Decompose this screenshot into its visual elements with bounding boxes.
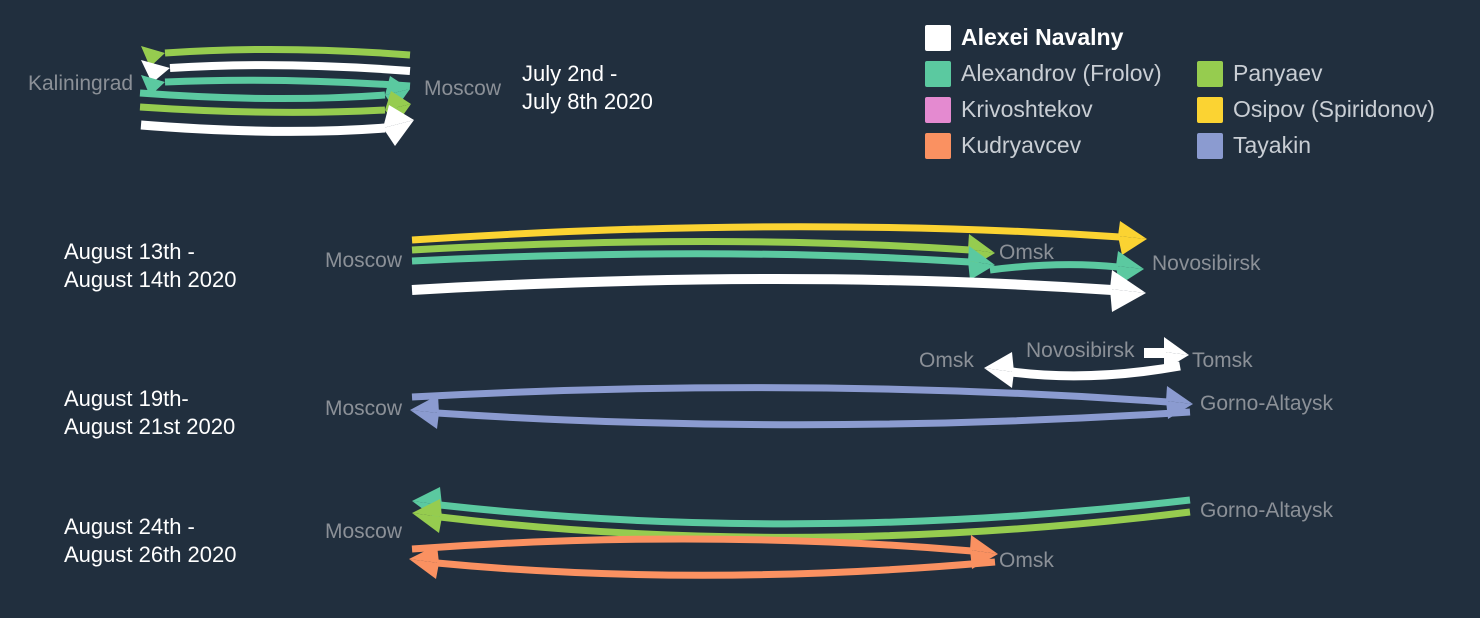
legend-item-navalny: Alexei Navalny: [925, 24, 1197, 51]
city-label-novosibirsk: Novosibirsk: [1152, 253, 1261, 274]
color-swatch-icon: [925, 61, 951, 87]
legend-label: Alexandrov (Frolov): [961, 60, 1162, 87]
legend-item-kudryavcev: Kudryavcev: [925, 132, 1197, 159]
color-swatch-icon: [925, 97, 951, 123]
route-moscow-omsk-kudryavcev: [412, 535, 998, 569]
city-label-gorno-altaysk: Gorno-Altaysk: [1200, 500, 1333, 521]
route-moscow-novosibirsk-navalny: [412, 270, 1146, 312]
legend-item-tayakin: Tayakin: [1197, 132, 1311, 159]
route-moscow-gornoaltaysk-tayakin: [412, 386, 1193, 419]
legend-row: Alexei Navalny: [925, 24, 1470, 51]
route-gornoaltaysk-moscow-tayakin: [410, 395, 1190, 429]
city-label-moscow: Moscow: [325, 398, 402, 419]
route-group-july-2-8: [140, 46, 414, 146]
infographic-canvas: Kaliningrad Moscow Moscow Omsk Novosibir…: [0, 0, 1480, 618]
city-label-gorno-altaysk: Gorno-Altaysk: [1200, 393, 1333, 414]
legend-label: Osipov (Spiridonov): [1233, 96, 1435, 123]
route-omsk-moscow-kudryavcev: [409, 545, 995, 579]
legend-label: Kudryavcev: [961, 132, 1081, 159]
color-swatch-icon: [1197, 133, 1223, 159]
route-gornoaltaysk-moscow-alexandrov: [412, 487, 1190, 524]
legend-item-krivoshtekov: Krivoshtekov: [925, 96, 1197, 123]
legend-label: Tayakin: [1233, 132, 1311, 159]
city-label-kaliningrad: Kaliningrad: [28, 73, 133, 94]
color-swatch-icon: [925, 25, 951, 51]
travel-legend: Alexei Navalny Alexandrov (Frolov) Panya…: [925, 24, 1470, 168]
legend-item-alexandrov: Alexandrov (Frolov): [925, 60, 1197, 87]
route-group-august-13-14: [412, 221, 1147, 312]
route-gornoaltaysk-moscow-panyaev: [412, 499, 1190, 537]
route-group-august-24-26: [409, 487, 1190, 579]
legend-row: Krivoshtekov Osipov (Spiridonov): [925, 96, 1470, 123]
legend-item-osipov: Osipov (Spiridonov): [1197, 96, 1435, 123]
date-label-august-13-14: August 13th - August 14th 2020: [64, 238, 236, 293]
color-swatch-icon: [1197, 97, 1223, 123]
city-label-moscow: Moscow: [424, 78, 501, 99]
city-label-novosibirsk: Novosibirsk: [1026, 340, 1135, 361]
legend-row: Kudryavcev Tayakin: [925, 132, 1470, 159]
date-label-august-19-21: August 19th- August 21st 2020: [64, 385, 235, 440]
legend-item-panyaev: Panyaev: [1197, 60, 1323, 87]
color-swatch-icon: [925, 133, 951, 159]
legend-row: Alexandrov (Frolov) Panyaev: [925, 60, 1470, 87]
city-label-omsk: Omsk: [999, 550, 1054, 571]
legend-label: Panyaev: [1233, 60, 1323, 87]
city-label-omsk: Omsk: [919, 350, 974, 371]
city-label-omsk: Omsk: [999, 242, 1054, 263]
city-label-moscow: Moscow: [325, 250, 402, 271]
legend-label: Alexei Navalny: [961, 24, 1123, 51]
city-label-moscow: Moscow: [325, 521, 402, 542]
city-label-tomsk: Tomsk: [1192, 350, 1253, 371]
color-swatch-icon: [1197, 61, 1223, 87]
date-label-august-24-26: August 24th - August 26th 2020: [64, 513, 236, 568]
legend-label: Krivoshtekov: [961, 96, 1093, 123]
date-label-july-2-8: July 2nd - July 8th 2020: [522, 60, 653, 115]
